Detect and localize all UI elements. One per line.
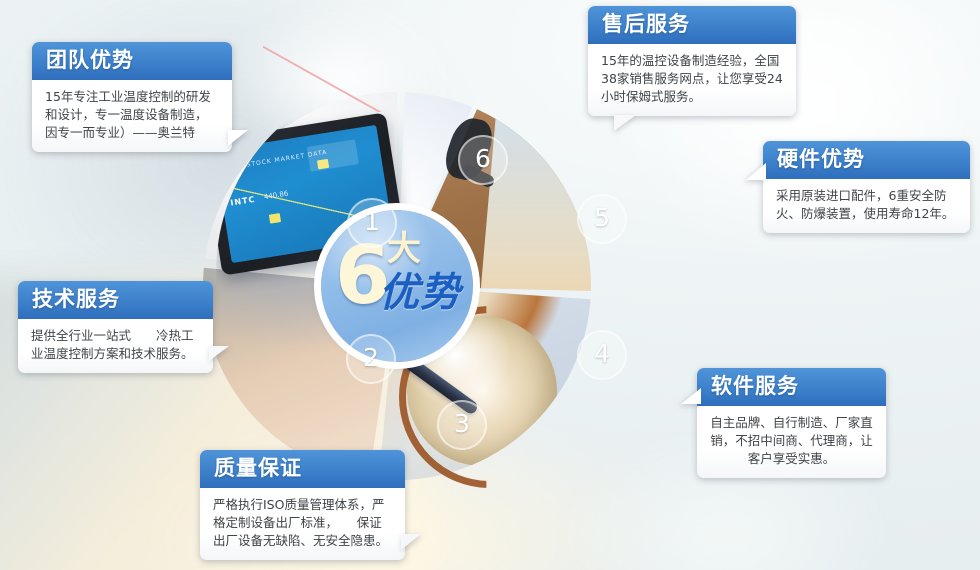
segment-number-1[interactable]: 1 xyxy=(347,198,397,248)
center-word: 优势 xyxy=(379,272,461,314)
callout-quality-title: 质量保证 xyxy=(200,450,405,488)
callout-team-advantage[interactable]: 团队优势 15年专注工业温度控制的研发和设计，专一温度设备制造，因专一而专业）—… xyxy=(32,42,232,152)
callout-quality-assurance[interactable]: 质量保证 严格执行ISO质量管理体系，严格定制设备出厂标准， 保证出厂设备无缺陷… xyxy=(200,450,405,560)
callout-software-service[interactable]: 软件服务 自主品牌、自行制造、厂家直销，不招中间商、代理商，让客户享受实惠。 xyxy=(697,368,886,478)
center-hub: 6 大 优势 xyxy=(321,210,473,362)
callout-technical-tail xyxy=(209,346,229,361)
callout-software-body: 自主品牌、自行制造、厂家直销，不招中间商、代理商，让客户享受实惠。 xyxy=(697,406,886,478)
segment-number-3[interactable]: 3 xyxy=(437,400,487,450)
callout-after-sales-body: 15年的温控设备制造经验，全国38家销售服务网点，让您享受24小时保姆式服务。 xyxy=(588,44,796,116)
callout-after-sales-tail xyxy=(614,115,636,131)
callout-software-title: 软件服务 xyxy=(697,368,886,406)
tablet-marker-b xyxy=(269,213,281,224)
infographic-stage: INTC 440.86 STOCK MARKET DATA 6 xyxy=(0,0,980,570)
red-trend-line xyxy=(263,46,381,112)
segment-number-6[interactable]: 6 xyxy=(458,135,508,185)
callout-hardware-advantage[interactable]: 硬件优势 采用原装进口配件，6重安全防火、防爆装置，使用寿命12年。 xyxy=(763,141,970,233)
callout-after-sales-title: 售后服务 xyxy=(588,6,796,44)
callout-technical-title: 技术服务 xyxy=(18,281,213,319)
callout-technical-service[interactable]: 技术服务 提供全行业一站式 冷热工业温度控制方案和技术服务。 xyxy=(18,281,213,373)
segment-number-4[interactable]: 4 xyxy=(577,330,627,380)
callout-hardware-body: 采用原装进口配件，6重安全防火、防爆装置，使用寿命12年。 xyxy=(763,179,970,233)
advantage-wheel: INTC 440.86 STOCK MARKET DATA 6 xyxy=(203,92,591,480)
callout-hardware-tail xyxy=(746,163,766,180)
callout-team-title: 团队优势 xyxy=(32,42,232,80)
callout-after-sales[interactable]: 售后服务 15年的温控设备制造经验，全国38家销售服务网点，让您享受24小时保姆… xyxy=(588,6,796,116)
callout-team-tail xyxy=(228,130,248,146)
callout-software-tail xyxy=(681,388,701,404)
callout-quality-tail xyxy=(401,534,421,550)
callout-team-body: 15年专注工业温度控制的研发和设计，专一温度设备制造，因专一而专业）——奥兰特 xyxy=(32,80,232,152)
segment-number-2[interactable]: 2 xyxy=(346,334,396,384)
callout-quality-body: 严格执行ISO质量管理体系，严格定制设备出厂标准， 保证出厂设备无缺陷、无安全隐… xyxy=(200,488,405,560)
callout-technical-body: 提供全行业一站式 冷热工业温度控制方案和技术服务。 xyxy=(18,319,213,373)
callout-hardware-title: 硬件优势 xyxy=(763,141,970,179)
segment-number-5[interactable]: 5 xyxy=(577,194,627,244)
